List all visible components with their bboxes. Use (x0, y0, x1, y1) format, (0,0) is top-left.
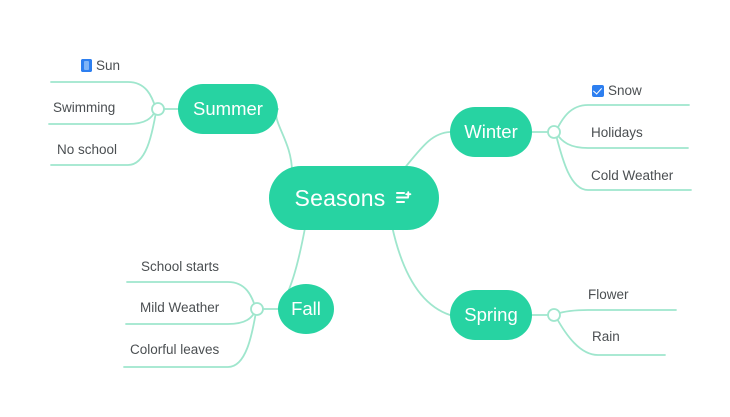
leaf-summer-no-school[interactable]: No school (57, 143, 117, 157)
connector-root-spring (392, 226, 450, 315)
leaf-summer-sun-label: Sun (96, 59, 120, 73)
collapse-handle-summer (152, 103, 164, 115)
leaf-winter-snow[interactable]: Snow (592, 84, 642, 98)
collapse-handle-winter (548, 126, 560, 138)
flag-icon[interactable] (81, 59, 92, 72)
branch-node-winter-label: Winter (464, 123, 517, 142)
leaf-winter-holidays-label: Holidays (591, 126, 643, 140)
leaf-winter-cold-weather-label: Cold Weather (591, 169, 673, 183)
mindmap-canvas[interactable]: Seasons Summer Winter Fall Spring Sun Sw… (0, 0, 730, 417)
branch-node-summer-label: Summer (193, 100, 263, 119)
collapse-handle-fall (251, 303, 263, 315)
leaf-spring-rain-label: Rain (592, 330, 620, 344)
branch-node-fall[interactable]: Fall (278, 284, 334, 334)
connector-fall-leaf-2 (124, 312, 256, 367)
branch-node-summer[interactable]: Summer (178, 84, 278, 134)
leaf-winter-snow-label: Snow (608, 84, 642, 98)
leaf-fall-mild-weather[interactable]: Mild Weather (140, 301, 219, 315)
leaf-fall-colorful-leaves[interactable]: Colorful leaves (130, 343, 219, 357)
root-node-seasons[interactable]: Seasons (269, 166, 439, 230)
leaf-summer-swimming-label: Swimming (53, 101, 115, 115)
leaf-spring-rain[interactable]: Rain (592, 330, 620, 344)
leaf-fall-mild-weather-label: Mild Weather (140, 301, 219, 315)
branch-node-winter[interactable]: Winter (450, 107, 532, 157)
leaf-summer-sun[interactable]: Sun (81, 59, 120, 73)
leaf-spring-flower-label: Flower (588, 288, 629, 302)
leaf-summer-no-school-label: No school (57, 143, 117, 157)
leaf-winter-holidays[interactable]: Holidays (591, 126, 643, 140)
add-topic-icon[interactable] (396, 191, 413, 206)
root-node-label: Seasons (295, 187, 386, 210)
branch-node-spring[interactable]: Spring (450, 290, 532, 340)
connector-root-summer (276, 109, 292, 172)
branch-node-spring-label: Spring (464, 306, 517, 325)
leaf-spring-flower[interactable]: Flower (588, 288, 629, 302)
leaf-winter-cold-weather[interactable]: Cold Weather (591, 169, 673, 183)
branch-node-fall-label: Fall (291, 300, 321, 319)
leaf-fall-school-starts[interactable]: School starts (141, 260, 219, 274)
leaf-fall-colorful-leaves-label: Colorful leaves (130, 343, 219, 357)
leaf-fall-school-starts-label: School starts (141, 260, 219, 274)
collapse-handle-spring (548, 309, 560, 321)
connector-spring-leaf-0 (556, 310, 676, 314)
checkbox-checked-icon[interactable] (592, 85, 604, 97)
connector-summer-leaf-2 (51, 112, 156, 165)
leaf-summer-swimming[interactable]: Swimming (53, 101, 115, 115)
